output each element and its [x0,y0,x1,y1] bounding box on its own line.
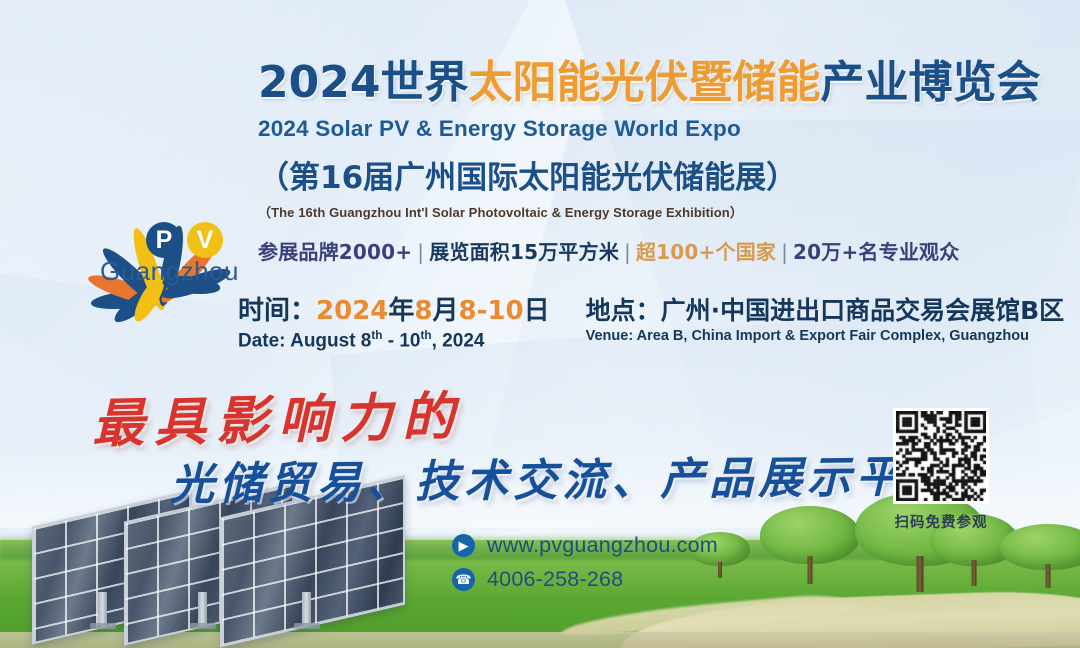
date-value-b: , 2024 [432,330,485,351]
logo-pv-lettermark: P V [146,222,223,258]
subtitle-english: （The 16th Guangzhou Int'l Solar Photovol… [258,202,1058,221]
stat-separator: | [776,240,793,264]
contact-block: ▶ www.pvguangzhou.com ☎ 4006-258-268 [452,533,718,601]
logo-letter-p: P [146,222,182,258]
date-label-en: Date: [238,330,286,351]
event-venue-chinese: 地点：广州·中国进出口商品交易会展馆B区 [586,297,1065,325]
date-sup-b: th [421,329,432,342]
date-value-a: August 8 [290,330,371,351]
headline-block: 2024世界太阳能光伏暨储能产业博览会 2024 Solar PV & Ener… [258,60,1058,265]
main-title-english: 2024 Solar PV & Energy Storage World Exp… [258,116,1058,142]
main-title-part1: 2024世界 [258,57,468,108]
slogan-line-2: 光储贸易、技术交流、产品展示平台！ [170,440,1004,513]
main-title-part2: 太阳能光伏暨储能 [468,57,820,108]
logo-city-label: Guangzhou [100,256,239,287]
date-day-end: 10 [487,296,523,326]
stat-countries: 超100+个国家 [636,240,776,264]
play-circle-icon: ▶ [452,534,475,557]
qr-block: 扫码免费参观 [893,408,989,532]
event-venue-english: Venue: Area B, China Import & Export Fai… [586,328,1065,344]
date-year: 2024 [316,296,388,326]
qr-caption: 扫码免费参观 [893,511,989,532]
venue-label-en: Venue: [586,328,634,344]
main-title-part3: 产业博览会 [820,57,1040,108]
tree [760,506,860,584]
website-row[interactable]: ▶ www.pvguangzhou.com [452,533,718,558]
event-date-english: Date: August 8th - 10th, 2024 [238,329,550,352]
date-day-dash: - [477,296,488,326]
tree [1000,524,1080,588]
date-day-unit: 日 [524,296,550,326]
date-mid: - 10 [382,330,420,351]
website-url[interactable]: www.pvguangzhou.com [487,533,718,558]
pv-guangzhou-logo: P V Guangzhou [62,104,272,294]
venue-value-en: Area B, China Import & Export Fair Compl… [637,328,1029,344]
expo-poster: P V Guangzhou 2024世界太阳能光伏暨储能产业博览会 2024 S… [0,0,1080,648]
date-month: 8 [414,296,432,326]
logo-letter-v: V [187,222,223,258]
date-day-start: 8 [459,296,477,326]
subtitle-chinese: （第16届广州国际太阳能光伏储能展） [258,152,1058,197]
stat-separator: | [619,240,636,264]
qr-code[interactable] [893,408,989,504]
phone-row[interactable]: ☎ 4006-258-268 [452,567,718,592]
date-label-cn: 时间： [238,296,316,326]
stat-brands: 参展品牌2000+ [258,240,412,264]
event-date-chinese: 时间：2024年8月8-10日 [238,297,550,326]
event-date: 时间：2024年8月8-10日 Date: August 8th - 10th,… [238,297,550,352]
phone-circle-icon: ☎ [452,568,475,591]
stats-row: 参展品牌2000+|展览面积15万平方米|超100+个国家|20万+名专业观众 [258,236,1058,265]
main-title: 2024世界太阳能光伏暨储能产业博览会 [258,60,1058,107]
stat-area: 展览面积15万平方米 [429,240,619,264]
stat-separator: | [412,240,429,264]
venue-value-cn: 广州·中国进出口商品交易会展馆B区 [661,296,1065,325]
date-sup-a: th [371,329,382,342]
event-venue: 地点：广州·中国进出口商品交易会展馆B区 Venue: Area B, Chin… [586,297,1065,352]
venue-label-cn: 地点： [586,296,661,325]
phone-number[interactable]: 4006-258-268 [487,567,623,592]
slogan-line-1: 最具影响力的 [91,374,465,457]
event-details: 时间：2024年8月8-10日 Date: August 8th - 10th,… [238,297,1064,352]
date-year-unit: 年 [388,296,414,326]
solar-panel [220,496,405,626]
stat-visitors: 20万+名专业观众 [793,240,959,264]
date-month-unit: 月 [433,296,459,326]
